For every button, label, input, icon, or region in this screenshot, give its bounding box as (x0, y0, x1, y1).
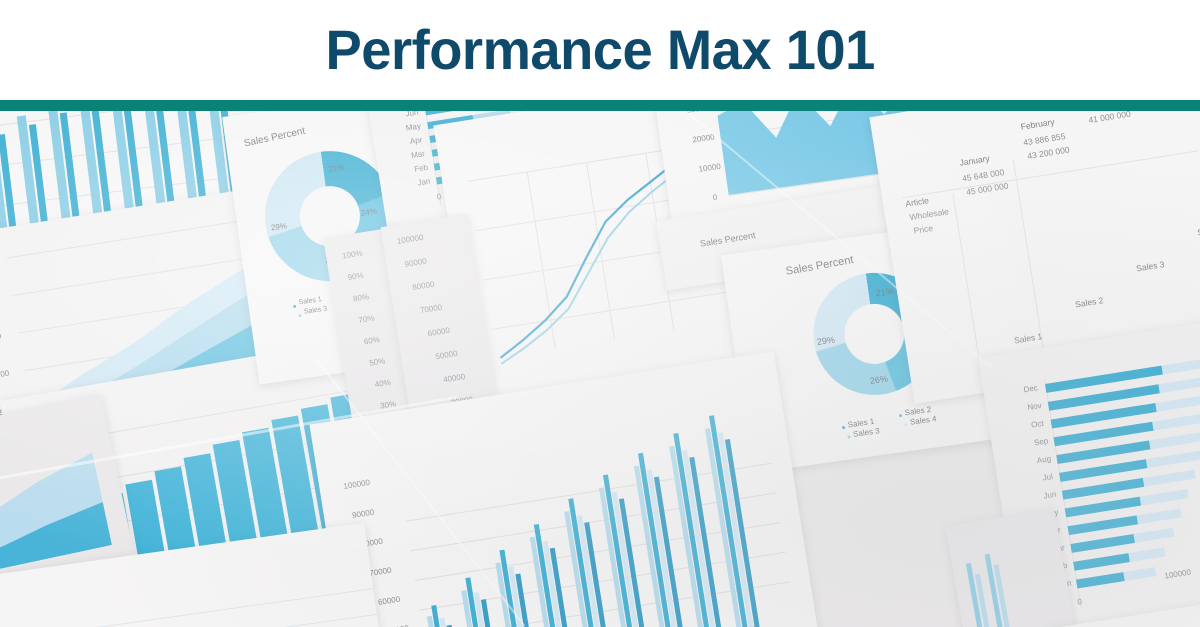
bar (1070, 534, 1135, 553)
table-header-cell: Article (905, 195, 930, 209)
table-row: Price (913, 223, 934, 236)
cat-label: Feb (414, 163, 429, 174)
series-label: Sales 3 (1136, 259, 1166, 273)
table-row: Wholesale (909, 206, 950, 222)
axis-tick: 90000 (404, 257, 427, 269)
chart-title: Sales Percent (699, 230, 756, 249)
axis-tick: 20000 (0, 369, 10, 381)
axis-tick: 0 (1077, 597, 1083, 607)
bar (1149, 431, 1200, 449)
table-cell: 45 000 000 (966, 181, 1010, 198)
bar (1076, 572, 1125, 588)
axis-tick: 0 (436, 192, 442, 202)
legend-item: Sales 1 (298, 296, 322, 306)
axis-tick: 80000 (412, 280, 435, 292)
cat-label: Nov (1027, 401, 1042, 412)
cat-label: Dec (1023, 383, 1038, 394)
page-root: Performance Max 101 (0, 0, 1200, 627)
cat-label: Sep (1033, 436, 1048, 447)
axis-tick: 50000 (386, 624, 409, 627)
bar (1146, 450, 1200, 468)
axis-tick: 100% (342, 249, 364, 261)
bar (1073, 553, 1130, 571)
page-title: Performance Max 101 (325, 22, 874, 78)
bar (1128, 547, 1165, 562)
cat-label: Jan (417, 177, 431, 188)
cat-label: Mar (410, 149, 425, 160)
cat-label: Aug (1036, 454, 1051, 465)
axis-tick: 90000 (351, 508, 374, 520)
axis-tick: 0 (712, 193, 718, 203)
cat-label: May (405, 121, 421, 132)
legend-item: Sales 3 (304, 305, 328, 315)
table-header-cell: January (959, 153, 990, 168)
axis-tick: 100000 (343, 478, 371, 491)
axis-tick: 90% (347, 271, 364, 282)
bar (1152, 412, 1200, 431)
axis-tick: 40000 (442, 372, 465, 384)
table-cell: 41 000 000 (1088, 111, 1132, 125)
bar (1140, 489, 1189, 505)
header: Performance Max 101 (0, 0, 1200, 100)
axis-tick: 40% (374, 378, 391, 389)
axis-tick: 100000 (1164, 568, 1192, 581)
table-header-cell: February (1020, 117, 1055, 132)
divider-bar (0, 100, 1200, 111)
series-label: Sales 1 (1013, 331, 1043, 345)
bar (1123, 567, 1156, 581)
bar (1155, 392, 1200, 412)
axis-tick: 60% (363, 335, 380, 346)
bar (1134, 528, 1175, 543)
axis-tick: 80% (352, 292, 369, 303)
axis-tick: 70000 (419, 303, 442, 315)
cat-label: Jul (1042, 472, 1054, 482)
bar (1068, 515, 1139, 535)
cat-label: Oct (1031, 419, 1045, 430)
axis-tick: 60000 (427, 326, 450, 338)
bar (1162, 354, 1200, 375)
bar (1158, 373, 1200, 393)
axis-tick: 70% (358, 313, 375, 324)
axis-tick: 50% (369, 356, 386, 367)
cat-label: Jun (1043, 490, 1057, 501)
chart-title: Sales Percent (785, 254, 855, 278)
bar (481, 599, 501, 627)
bar (1062, 478, 1144, 500)
axis-tick: 10000 (698, 162, 721, 174)
axis-tick: 50000 (435, 349, 458, 361)
cat-label: Apr (409, 135, 423, 146)
hero-photo: Jan Feb Mar Apr May Jun Jul Aug Sep Oct … (0, 111, 1200, 627)
axis-tick: 100000 (396, 233, 424, 246)
axis-tick: 25000 (0, 331, 2, 343)
bar (1065, 497, 1141, 518)
cat-label: Jun (405, 111, 419, 118)
bar (1143, 470, 1196, 487)
axis-tick: 70000 (369, 566, 392, 578)
series-label: Sales 2 (1074, 295, 1104, 309)
bar (1137, 508, 1182, 524)
chart-title: Sales Percent (243, 126, 306, 150)
axis-tick: 60000 (377, 595, 400, 607)
table-cell: 43 200 000 (1027, 145, 1071, 162)
